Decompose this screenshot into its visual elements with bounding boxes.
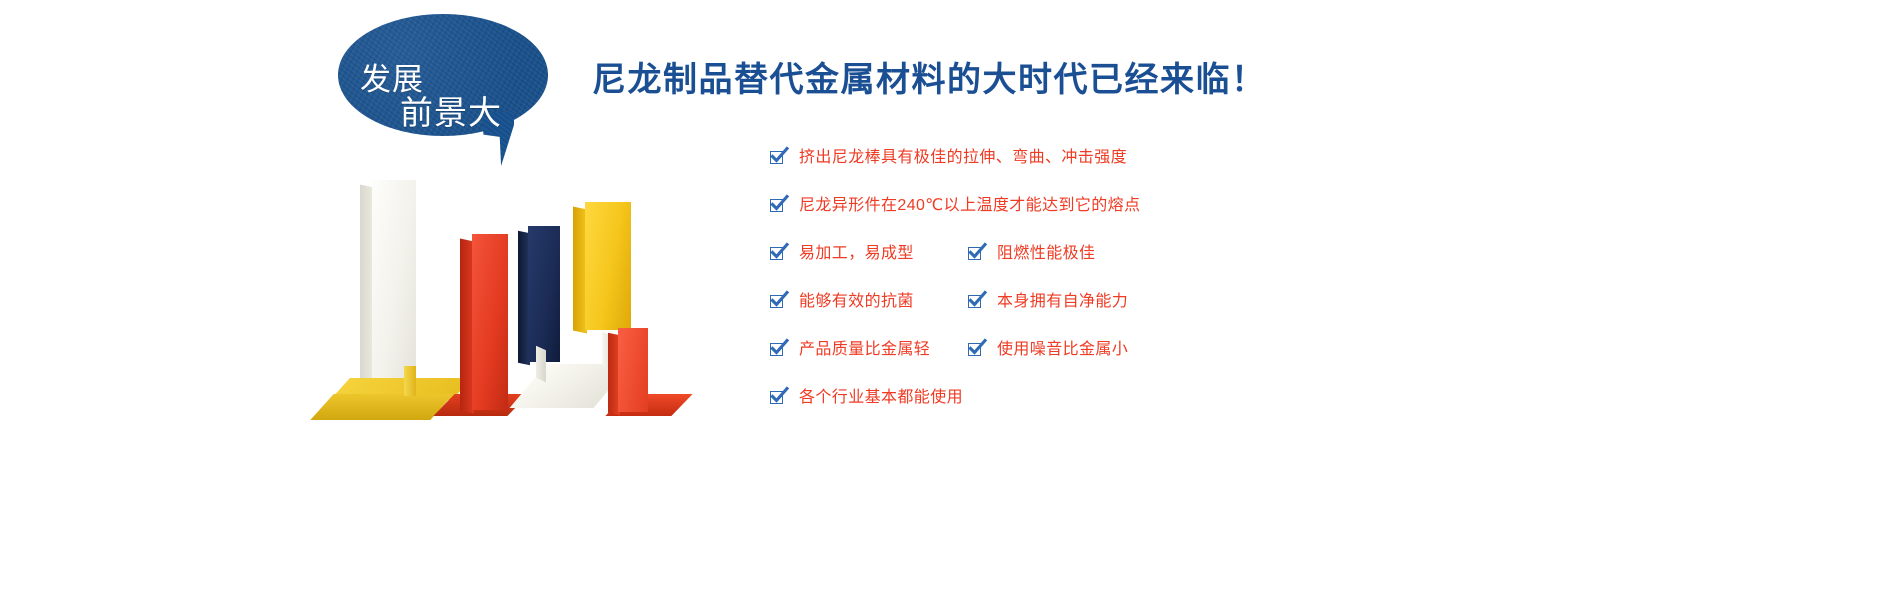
checklist-row: 易加工，易成型 阻燃性能极佳 (770, 246, 1470, 294)
checklist-item: 阻燃性能极佳 (968, 246, 1095, 262)
yellow-tall-slab-face (585, 202, 631, 330)
checklist-item: 挤出尼龙棒具有极佳的拉伸、弯曲、冲击强度 (770, 150, 1127, 166)
checklist-item-label: 使用噪音比金属小 (997, 342, 1128, 358)
checkbox-checked-icon (968, 342, 984, 358)
checklist-item: 尼龙异形件在240℃以上温度才能达到它的熔点 (770, 198, 1140, 214)
checkbox-checked-icon (770, 342, 786, 358)
checklist-item: 易加工，易成型 (770, 246, 914, 262)
checklist-row: 能够有效的抗菌 本身拥有自净能力 (770, 294, 1470, 342)
checkbox-checked-icon (770, 390, 786, 406)
white-tall-slab-face (372, 180, 416, 388)
checklist-item: 本身拥有自净能力 (968, 294, 1128, 310)
checklist-row: 挤出尼龙棒具有极佳的拉伸、弯曲、冲击强度 (770, 150, 1470, 198)
white-u-wall-left (536, 346, 546, 382)
checklist-item: 能够有效的抗菌 (770, 294, 914, 310)
checklist-item-label: 尼龙异形件在240℃以上温度才能达到它的熔点 (799, 198, 1140, 214)
navy-bar-face (528, 226, 560, 362)
checklist-item-label: 易加工，易成型 (799, 246, 914, 262)
checkbox-checked-icon (968, 246, 984, 262)
red-l-face (618, 328, 648, 412)
yellow-base-lip (404, 366, 416, 396)
checklist-item: 各个行业基本都能使用 (770, 390, 963, 406)
checklist-item-label: 挤出尼龙棒具有极佳的拉伸、弯曲、冲击强度 (799, 150, 1127, 166)
checklist-item-label: 能够有效的抗菌 (799, 294, 914, 310)
checkbox-checked-icon (770, 198, 786, 214)
checklist-item-label: 本身拥有自净能力 (997, 294, 1128, 310)
checkbox-checked-icon (770, 246, 786, 262)
checklist-row: 各个行业基本都能使用 (770, 390, 1470, 438)
speech-bubble-line-2: 前景大 (400, 86, 502, 134)
checklist-item-label: 各个行业基本都能使用 (799, 390, 963, 406)
checklist-item-label: 阻燃性能极佳 (997, 246, 1095, 262)
checklist-item: 产品质量比金属轻 (770, 342, 930, 358)
checkbox-checked-icon (770, 294, 786, 310)
checklist-row: 尼龙异形件在240℃以上温度才能达到它的熔点 (770, 198, 1470, 246)
speech-bubble: 发展 前景大 (338, 14, 548, 136)
red-angle-face (472, 234, 508, 410)
feature-checklist: 挤出尼龙棒具有极佳的拉伸、弯曲、冲击强度 尼龙异形件在240℃以上温度才能达到它… (770, 150, 1470, 438)
checklist-item: 使用噪音比金属小 (968, 342, 1128, 358)
product-photo (340, 180, 740, 470)
yellow-base-front (310, 394, 453, 420)
checklist-item-label: 产品质量比金属轻 (799, 342, 930, 358)
banner-canvas: 发展 前景大 尼龙制品替代金属材料的大时代已经来临！ (0, 0, 1902, 592)
page-title: 尼龙制品替代金属材料的大时代已经来临！ (592, 52, 1267, 101)
checkbox-checked-icon (770, 150, 786, 166)
checkbox-checked-icon (968, 294, 984, 310)
checklist-row: 产品质量比金属轻 使用噪音比金属小 (770, 342, 1470, 390)
